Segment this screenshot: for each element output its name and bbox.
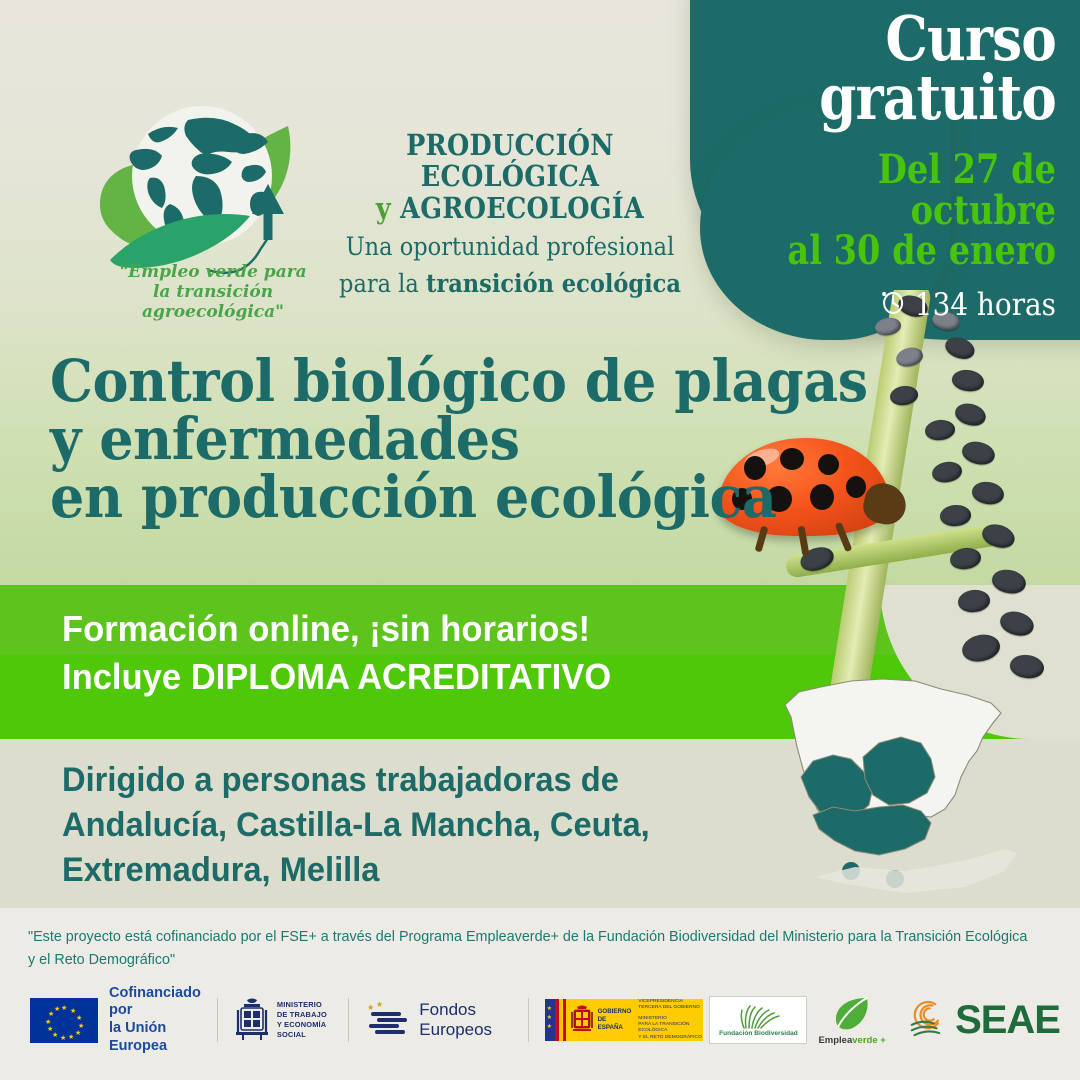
aphid	[960, 438, 997, 467]
mtrab-line-3: Y ECONOMÍA SOCIAL	[277, 1020, 332, 1040]
fondos-europeos-label: Fondos Europeos	[419, 1000, 511, 1040]
fundacion-biodiversidad-label: Fundación Biodiversidad	[719, 1030, 798, 1037]
aphid	[957, 588, 991, 613]
eu-label-line-2: la Unión Europea	[109, 1020, 201, 1055]
fondos-europeos-icon: ★ ★	[365, 1001, 409, 1039]
ladybug-spot	[810, 484, 834, 510]
audience-line-3: Extremadura, Melilla	[62, 848, 650, 893]
logo-divider	[528, 998, 529, 1042]
headline-agroecologia: AGROECOLOGÍA	[400, 191, 644, 225]
ladybug-spot	[846, 476, 866, 498]
band-line-2: Incluye DIPLOMA ACREDITATIVO	[62, 653, 611, 701]
audience-line-2: Andalucía, Castilla-La Mancha, Ceuta,	[62, 803, 650, 848]
audience-text: Dirigido a personas trabajadoras de Anda…	[62, 758, 674, 894]
poster-root: Curso gratuito Del 27 de octubre al 30 d…	[0, 0, 1080, 1080]
badge-line-2: gratuito	[750, 69, 1056, 128]
clock-icon	[879, 286, 906, 324]
eu-funding-label: Cofinanciado por la Unión Europea	[109, 985, 201, 1056]
audience-line-1: Dirigido a personas trabajadoras de	[62, 758, 650, 803]
min-line-2: PARA LA TRANSICIÓN ECOLÓGICA	[638, 1022, 702, 1035]
band-line-1: Formación online, ¡sin horarios!	[62, 605, 611, 653]
highlight-band-text: Formación online, ¡sin horarios! Incluye…	[62, 605, 634, 700]
free-course-badge: Curso gratuito Del 27 de octubre al 30 d…	[700, 10, 1080, 324]
sub-bold: transición ecológica	[426, 269, 681, 298]
grass-icon	[732, 1003, 784, 1029]
empleaverde-plain: Emplea	[818, 1035, 852, 1046]
aphid	[960, 631, 1003, 664]
ministerio-transicion-label: VICEPRESIDENCIA TERCERA DEL GOBIERNO MIN…	[638, 999, 702, 1041]
eu-flag-icon: ★ ★ ★ ★ ★ ★ ★ ★ ★ ★ ★ ★	[30, 998, 98, 1043]
title-line-2: y enfermedades	[50, 410, 701, 468]
empleaverde-icon: Empleaverde +	[818, 995, 885, 1046]
ministerio-trabajo-label: MINISTERIO DE TRABAJO Y ECONOMÍA SOCIAL	[277, 1000, 332, 1039]
aphid	[939, 504, 971, 527]
eu-stars-mini: ★★★	[547, 1005, 552, 1032]
mtrab-line-2: DE TRABAJO	[277, 1010, 332, 1020]
seae-sun-field-icon	[909, 995, 949, 1045]
aphid	[990, 567, 1028, 597]
ladybug-leg	[797, 526, 809, 557]
gob-line-1: GOBIERNO	[598, 1008, 632, 1016]
headline-accent-y: y	[376, 191, 391, 225]
vice-line-2: TERCERA DEL GOBIERNO	[638, 1005, 702, 1011]
program-header-text: PRODUCCIÓN ECOLÓGICA y AGROECOLOGÍA Una …	[300, 130, 720, 298]
badge-hours: 134 horas	[736, 286, 1056, 324]
ladybug-spot	[818, 454, 839, 475]
program-sub-line-1: Una oportunidad profesional	[321, 233, 699, 261]
aphid	[970, 479, 1005, 506]
program-headline-line-1: PRODUCCIÓN ECOLÓGICA	[325, 130, 695, 193]
program-headline-line-2: y AGROECOLOGÍA	[325, 193, 695, 224]
mtrab-line-1: MINISTERIO	[277, 1000, 332, 1010]
svg-text:★: ★	[376, 1001, 383, 1009]
funding-disclaimer: "Este proyecto está cofinanciado por el …	[28, 926, 1028, 973]
fundacion-biodiversidad-icon: Fundación Biodiversidad	[709, 996, 807, 1044]
title-line-1: Control biológico de plagas	[50, 352, 701, 410]
ladybug-head	[860, 480, 910, 529]
program-sub-line-2: para la transición ecológica	[321, 270, 699, 298]
aphid	[997, 608, 1036, 639]
badge-date-line-2: al 30 de enero	[757, 231, 1056, 272]
page-title: Control biológico de plagas y enfermedad…	[50, 352, 750, 526]
badge-date-line-1: Del 27 de octubre	[757, 150, 1056, 232]
logo-divider	[217, 998, 218, 1042]
min-line-3: Y EL RETO DEMOGRÁFICO	[638, 1035, 702, 1041]
spain-map	[755, 665, 1055, 900]
spain-flag-bar: ★★★	[545, 999, 566, 1041]
aphid	[951, 368, 986, 393]
eu-label-line-1: Cofinanciado por	[109, 985, 201, 1020]
sub-prefix: para la	[339, 269, 419, 298]
footer-logo-row: ★ ★ ★ ★ ★ ★ ★ ★ ★ ★ ★ ★ Cofinanciado por…	[30, 988, 1060, 1052]
badge-hours-label: 134 horas	[915, 287, 1056, 323]
aphid	[953, 400, 989, 429]
logo-divider	[348, 998, 349, 1042]
gob-line-2: DE ESPAÑA	[598, 1016, 632, 1032]
seae-label: SEAE	[955, 998, 1060, 1043]
badge-dates: Del 27 de octubre al 30 de enero	[757, 150, 1056, 272]
title-line-3: en producción ecológica	[50, 468, 701, 526]
gobierno-de-espana-icon: ★★★ GOBIERNO DE ESPAÑA VICEPRESIDENCIA T…	[545, 999, 703, 1041]
ladybug-spot	[780, 448, 804, 470]
aphid	[924, 418, 956, 441]
aphid	[930, 460, 963, 485]
leaf-icon	[832, 995, 872, 1033]
logo-quote: "Empleo verde para la transición agroeco…	[118, 262, 308, 322]
gobierno-label: GOBIERNO DE ESPAÑA	[598, 1008, 632, 1031]
spain-coat-of-arms-icon	[234, 998, 270, 1042]
empleaverde-accent: verde +	[852, 1035, 886, 1046]
empleaverde-label: Empleaverde +	[818, 1035, 885, 1046]
aphid	[942, 333, 977, 362]
svg-text:★: ★	[367, 1003, 374, 1012]
coat-of-arms-small-icon	[570, 1004, 594, 1036]
